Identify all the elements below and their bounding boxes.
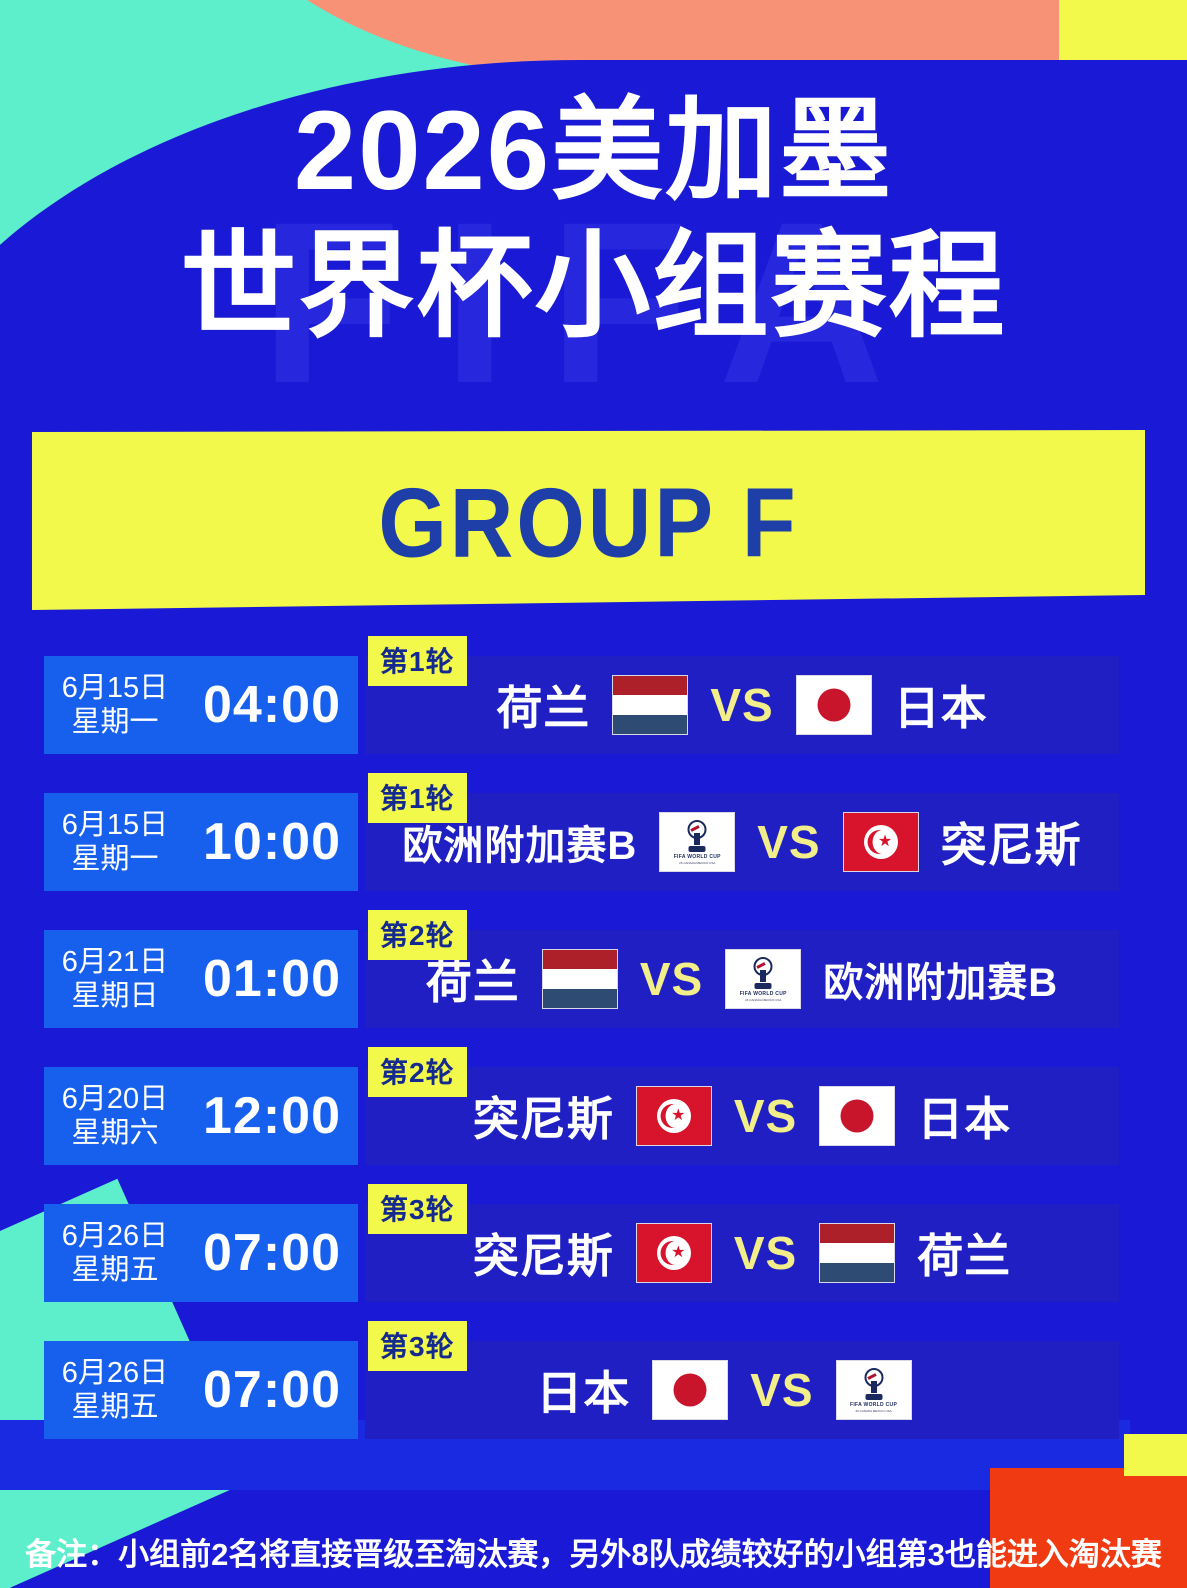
match-weekday: 星期一: [44, 705, 186, 739]
match-time: 07:00: [186, 1360, 358, 1420]
match-time: 04:00: [186, 675, 358, 735]
title-line-2: 世界杯小组赛程: [0, 225, 1187, 348]
fifa-world-cup-trophy-icon: FIFA WORLD CUP26 CANADA MEXICO USA: [659, 812, 735, 872]
versus-label: VS: [710, 678, 773, 732]
match-round-badge: 第2轮: [368, 1047, 467, 1097]
tunisia-flag-icon: ★: [843, 812, 919, 872]
match-date-block: 6月21日星期日: [44, 945, 186, 1013]
match-time: 12:00: [186, 1086, 358, 1146]
home-team-name: 日本: [536, 1357, 630, 1423]
away-team-name: 日本: [917, 1083, 1011, 1149]
match-time: 01:00: [186, 949, 358, 1009]
match-date: 6月15日: [44, 671, 186, 705]
match-time: 07:00: [186, 1223, 358, 1283]
versus-label: VS: [750, 1363, 813, 1417]
page-title: 2026美加墨 世界杯小组赛程: [0, 92, 1187, 348]
footer-note: 备注：小组前2名将直接晋级至淘汰赛，另外8队成绩较好的小组第3也能进入淘汰赛: [0, 1529, 1187, 1574]
versus-label: VS: [640, 952, 703, 1006]
japan-flag-icon: [819, 1086, 895, 1146]
match-teams: 荷兰VS日本: [365, 656, 1119, 754]
match-date: 6月21日: [44, 945, 186, 979]
away-team-name: 欧洲附加赛B: [823, 950, 1058, 1008]
netherlands-flag-icon: [542, 949, 618, 1009]
match-datetime-cell: 6月15日星期一04:00: [44, 656, 358, 754]
tunisia-flag-icon: ★: [636, 1086, 712, 1146]
away-team-name: 荷兰: [917, 1220, 1011, 1286]
tunisia-flag-icon: ★: [636, 1223, 712, 1283]
match-date-block: 6月26日星期五: [44, 1219, 186, 1287]
match-date-block: 6月20日星期六: [44, 1082, 186, 1150]
match-round-badge: 第3轮: [368, 1184, 467, 1234]
match-time: 10:00: [186, 812, 358, 872]
versus-label: VS: [734, 1089, 797, 1143]
match-date-block: 6月15日星期一: [44, 671, 186, 739]
match-teams: 突尼斯★VS日本: [365, 1067, 1119, 1165]
home-team-name: 突尼斯: [473, 1083, 614, 1149]
japan-flag-icon: [796, 675, 872, 735]
match-row[interactable]: 6月21日星期日01:00第2轮荷兰VSFIFA WORLD CUP26 CAN…: [0, 910, 1187, 1047]
group-banner: GROUP F: [32, 430, 1145, 610]
match-teams: 突尼斯★VS荷兰: [365, 1204, 1119, 1302]
title-line-1: 2026美加墨: [0, 92, 1187, 211]
match-datetime-cell: 6月21日星期日01:00: [44, 930, 358, 1028]
match-row[interactable]: 6月15日星期一10:00第1轮欧洲附加赛BFIFA WORLD CUP26 C…: [0, 773, 1187, 910]
match-weekday: 星期六: [44, 1116, 186, 1150]
match-teams: 荷兰VSFIFA WORLD CUP26 CANADA MEXICO USA欧洲…: [365, 930, 1119, 1028]
japan-flag-icon: [652, 1360, 728, 1420]
match-row[interactable]: 6月20日星期六12:00第2轮突尼斯★VS日本: [0, 1047, 1187, 1184]
match-date-block: 6月15日星期一: [44, 808, 186, 876]
footer-note-text: 备注：小组前2名将直接晋级至淘汰赛，另外8队成绩较好的小组第3也能进入淘汰赛: [25, 1529, 1162, 1574]
group-label: GROUP F: [32, 466, 1145, 580]
match-weekday: 星期日: [44, 979, 186, 1013]
match-date-block: 6月26日星期五: [44, 1356, 186, 1424]
home-team-name: 突尼斯: [473, 1220, 614, 1286]
match-weekday: 星期五: [44, 1390, 186, 1424]
away-team-name: 突尼斯: [941, 809, 1082, 875]
away-team-name: 日本: [894, 672, 988, 738]
poster-root: FIFA 2026美加墨 世界杯小组赛程 GROUP F 6月15日星期一04:…: [0, 0, 1187, 1588]
fifa-world-cup-trophy-icon: FIFA WORLD CUP26 CANADA MEXICO USA: [725, 949, 801, 1009]
netherlands-flag-icon: [612, 675, 688, 735]
match-row[interactable]: 6月26日星期五07:00第3轮突尼斯★VS荷兰: [0, 1184, 1187, 1321]
match-round-badge: 第3轮: [368, 1321, 467, 1371]
match-date: 6月26日: [44, 1356, 186, 1390]
match-round-badge: 第1轮: [368, 636, 467, 686]
match-datetime-cell: 6月15日星期一10:00: [44, 793, 358, 891]
match-datetime-cell: 6月20日星期六12:00: [44, 1067, 358, 1165]
match-round-badge: 第1轮: [368, 773, 467, 823]
match-round-badge: 第2轮: [368, 910, 467, 960]
versus-label: VS: [757, 815, 820, 869]
match-datetime-cell: 6月26日星期五07:00: [44, 1204, 358, 1302]
match-row[interactable]: 6月15日星期一04:00第1轮荷兰VS日本: [0, 636, 1187, 773]
match-date: 6月20日: [44, 1082, 186, 1116]
match-weekday: 星期五: [44, 1253, 186, 1287]
match-datetime-cell: 6月26日星期五07:00: [44, 1341, 358, 1439]
match-teams: 欧洲附加赛BFIFA WORLD CUP26 CANADA MEXICO USA…: [365, 793, 1119, 891]
match-schedule-list: 6月15日星期一04:00第1轮荷兰VS日本6月15日星期一10:00第1轮欧洲…: [0, 636, 1187, 1458]
match-row[interactable]: 6月26日星期五07:00第3轮日本VSFIFA WORLD CUP26 CAN…: [0, 1321, 1187, 1458]
match-weekday: 星期一: [44, 842, 186, 876]
away-team-name-obscured: [934, 1365, 948, 1415]
match-date: 6月26日: [44, 1219, 186, 1253]
match-teams: 日本VSFIFA WORLD CUP26 CANADA MEXICO USA: [365, 1341, 1119, 1439]
home-team-name: 荷兰: [496, 672, 590, 738]
match-date: 6月15日: [44, 808, 186, 842]
versus-label: VS: [734, 1226, 797, 1280]
netherlands-flag-icon: [819, 1223, 895, 1283]
fifa-world-cup-trophy-icon: FIFA WORLD CUP26 CANADA MEXICO USA: [836, 1360, 912, 1420]
